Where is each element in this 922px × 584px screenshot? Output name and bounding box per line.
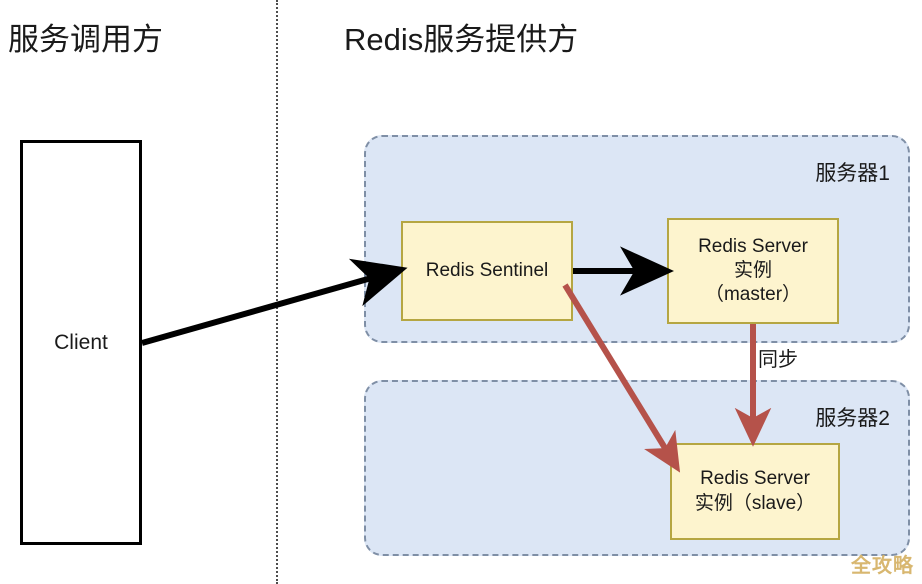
- section-title-caller: 服务调用方: [8, 24, 163, 55]
- vertical-divider: [276, 0, 278, 584]
- sync-edge-label: 同步: [758, 343, 798, 372]
- server-group-2-label: 服务器2: [815, 402, 890, 432]
- redis-master-node-line2: 实例: [734, 259, 772, 283]
- section-title-provider: Redis服务提供方: [344, 24, 578, 55]
- redis-slave-node-line2: 实例（slave）: [695, 492, 815, 516]
- watermark: 全攻略: [851, 549, 914, 578]
- client-node: Client: [20, 140, 142, 545]
- redis-sentinel-node: Redis Sentinel: [401, 221, 573, 321]
- redis-master-node-line3: （master）: [705, 283, 801, 307]
- diagram-canvas: 服务调用方 Redis服务提供方 服务器1 服务器2 Client Redis …: [0, 0, 922, 584]
- redis-master-node: Redis Server 实例 （master）: [667, 218, 839, 324]
- redis-sentinel-node-label: Redis Sentinel: [426, 259, 549, 283]
- server-group-1-label: 服务器1: [815, 157, 890, 187]
- client-node-label: Client: [54, 331, 108, 355]
- redis-slave-node-line1: Redis Server: [700, 467, 810, 491]
- redis-slave-node: Redis Server 实例（slave）: [670, 443, 840, 540]
- edge-client-to-sentinel: [142, 271, 396, 343]
- redis-master-node-line1: Redis Server: [698, 235, 808, 259]
